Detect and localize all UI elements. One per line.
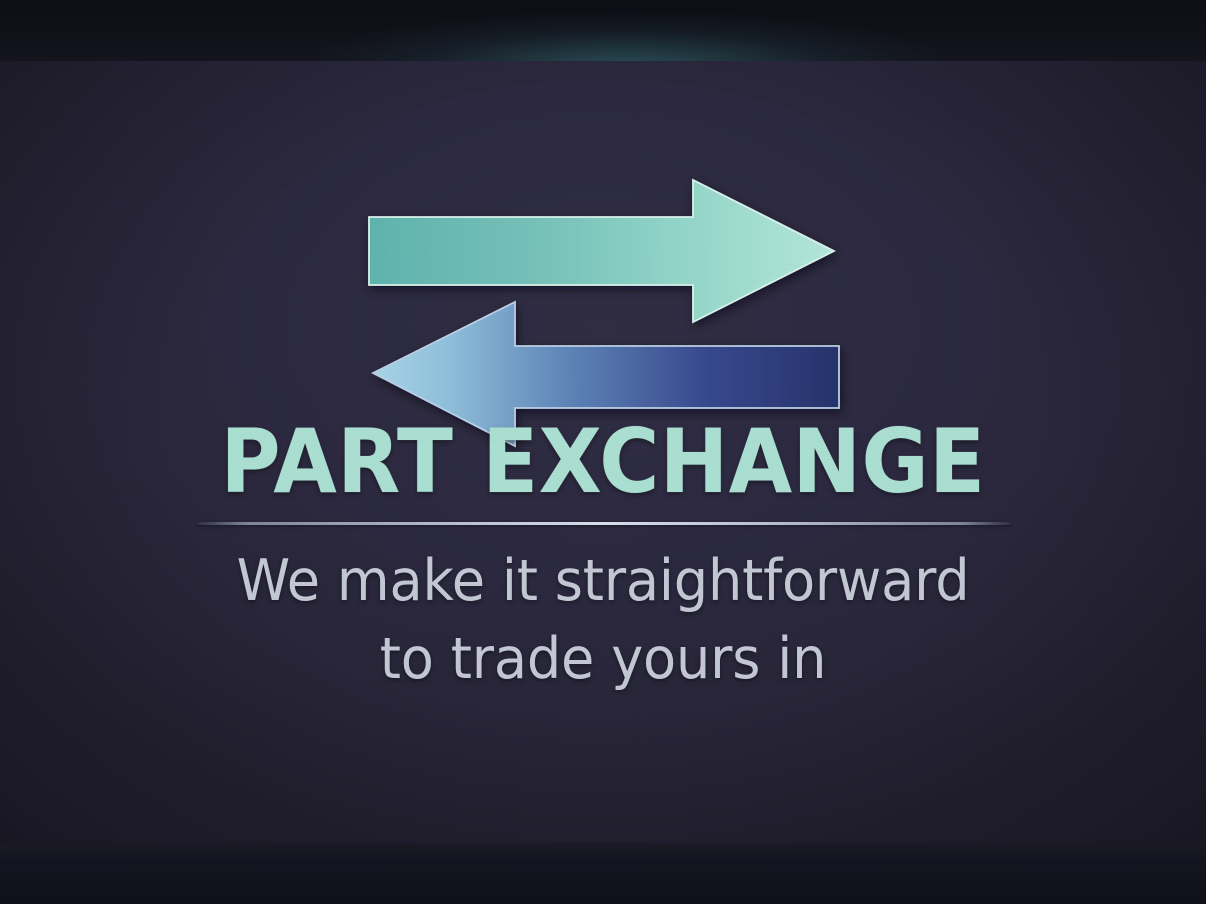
subtitle-line-1: We make it straightforward: [30, 542, 1176, 620]
exchange-arrows-graphic: [355, 105, 855, 405]
page-title: PART EXCHANGE: [42, 415, 1164, 509]
slide-stage: PART EXCHANGE We make it straightforward…: [0, 60, 1206, 844]
subtitle: We make it straightforward to trade your…: [30, 542, 1176, 698]
subtitle-line-2: to trade yours in: [30, 620, 1176, 698]
arrow-right-icon: [369, 180, 834, 322]
letterbox-bar-top: [0, 0, 1206, 61]
letterbox-bar-bottom: [0, 843, 1206, 904]
title-divider: [197, 522, 1011, 525]
part-exchange-slide: PART EXCHANGE We make it straightforward…: [0, 0, 1206, 904]
